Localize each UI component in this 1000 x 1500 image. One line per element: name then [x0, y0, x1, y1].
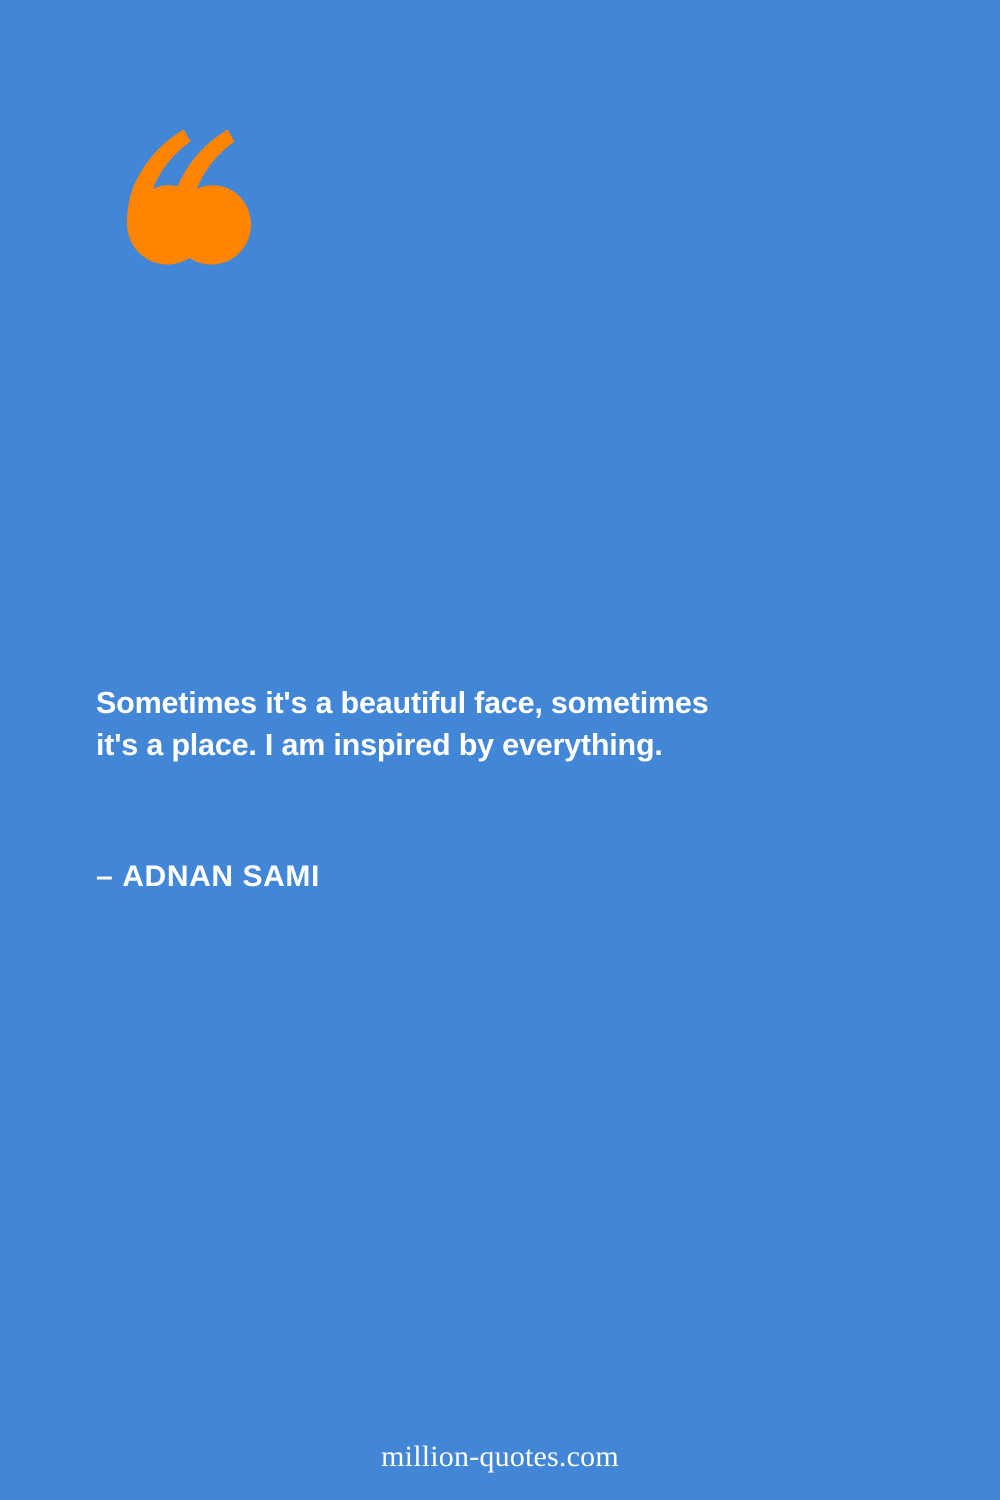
double-quotation-mark-icon — [93, 126, 255, 276]
footer: million-quotes.com — [0, 1440, 1000, 1474]
quote-line: Sometimes it's a beautiful face, sometim… — [96, 682, 856, 724]
quote-card: Sometimes it's a beautiful face, sometim… — [0, 0, 1000, 1500]
quote-text: Sometimes it's a beautiful face, sometim… — [96, 682, 856, 766]
quote-attribution: –ADNAN SAMI — [96, 860, 320, 894]
quote-line: it's a place. I am inspired by everythin… — [96, 724, 856, 766]
attribution-dash: – — [96, 860, 113, 893]
site-credit: million-quotes.com — [381, 1440, 619, 1473]
author-name: ADNAN SAMI — [122, 860, 320, 893]
